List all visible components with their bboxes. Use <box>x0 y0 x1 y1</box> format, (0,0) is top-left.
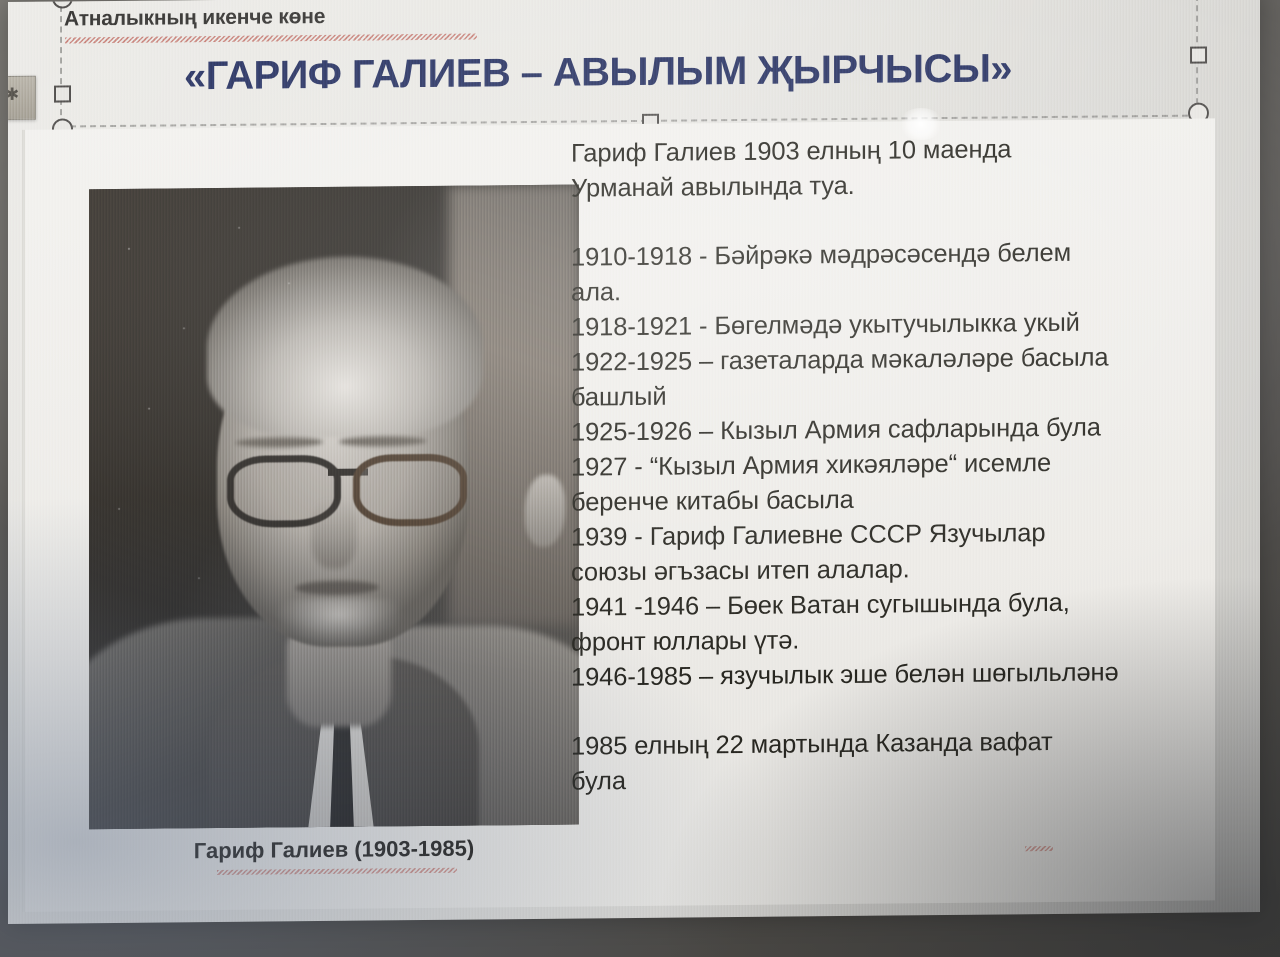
slide-title-text[interactable]: «ГАРИФ ГАЛИЕВ – АВЫЛЫМ ҖЫРЧЫСЫ» <box>8 45 1188 101</box>
resize-handle-middle-right[interactable] <box>1190 46 1207 63</box>
slide-title-placeholder[interactable]: Атналыкның икенче көне «ГАРИФ ГАЛИЕВ – А… <box>8 0 1260 130</box>
bio-line: 1925-1926 – Кызыл Армия сафларында була <box>571 410 1201 451</box>
portrait-caption[interactable]: Гариф Галиев (1903-1985) <box>89 835 579 866</box>
biography-paragraph-death: 1985 елның 22 мартында Казанда вафат бул… <box>571 724 1201 800</box>
presentation-slide-canvas[interactable]: Атналыкның икенче көне «ГАРИФ ГАЛИЕВ – А… <box>8 0 1260 924</box>
bio-line: була <box>571 759 1201 800</box>
asterisk-icon: ✱ <box>8 86 19 103</box>
bio-line: 1918-1921 - Бөгелмәдә укытучылыкка укый <box>571 305 1201 346</box>
bio-line: башлый <box>571 375 1201 416</box>
biography-paragraph-birth: Гариф Галиев 1903 елның 10 маенда Урмана… <box>571 131 1201 207</box>
bio-line: 1939 - Гариф Галиевне СССР Язучылар <box>571 515 1201 556</box>
bio-line: ала. <box>571 270 1201 311</box>
resize-handle-middle-left[interactable] <box>54 85 71 102</box>
slide-content-area[interactable]: Гариф Галиев (1903-1985) Гариф Галиев 19… <box>22 118 1215 911</box>
slide-subtitle-text[interactable]: Атналыкның икенче көне <box>64 5 325 32</box>
spellcheck-squiggle-subtitle <box>65 34 477 44</box>
bio-line: беренче китабы басыла <box>571 480 1201 521</box>
spellcheck-squiggle-caption <box>217 868 457 875</box>
spellcheck-squiggle-body <box>1025 846 1053 851</box>
biography-text-placeholder[interactable]: Гариф Галиев 1903 елның 10 маенда Урмана… <box>571 131 1201 800</box>
bio-line: Урманай авылында туа. <box>571 166 1201 207</box>
portrait-photo[interactable] <box>89 185 579 830</box>
bio-line: 1922-1925 – газеталарда мәкаләләре басыл… <box>571 340 1201 381</box>
bio-line: союзы әгъзасы итеп алалар. <box>571 550 1201 591</box>
photo-film-speckle <box>89 185 579 830</box>
selection-border-left <box>60 0 62 126</box>
bio-line: 1941 -1946 – Бөек Ватан сугышында була, <box>571 585 1201 626</box>
bio-line: 1946-1985 – язучылык эше белән шөгыльлән… <box>571 655 1201 696</box>
bio-line: фронт юллары үтә. <box>571 620 1201 661</box>
bio-line: 1927 - “Кызыл Армия хикәяләре“ исемле <box>571 445 1201 486</box>
portrait-figure: Гариф Галиев (1903-1985) <box>89 185 579 890</box>
bio-line: Гариф Галиев 1903 елның 10 маенда <box>571 131 1201 172</box>
bio-line: 1910-1918 - Бәйрәкә мәдрәсәсендә белем <box>571 235 1201 276</box>
biography-paragraph-timeline: 1910-1918 - Бәйрәкә мәдрәсәсендә белем а… <box>571 235 1201 696</box>
photographed-scene: Атналыкның икенче көне «ГАРИФ ГАЛИЕВ – А… <box>0 0 1280 957</box>
floating-tool-badge[interactable]: ✱ <box>8 76 36 120</box>
bio-line: 1985 елның 22 мартында Казанда вафат <box>571 724 1201 765</box>
